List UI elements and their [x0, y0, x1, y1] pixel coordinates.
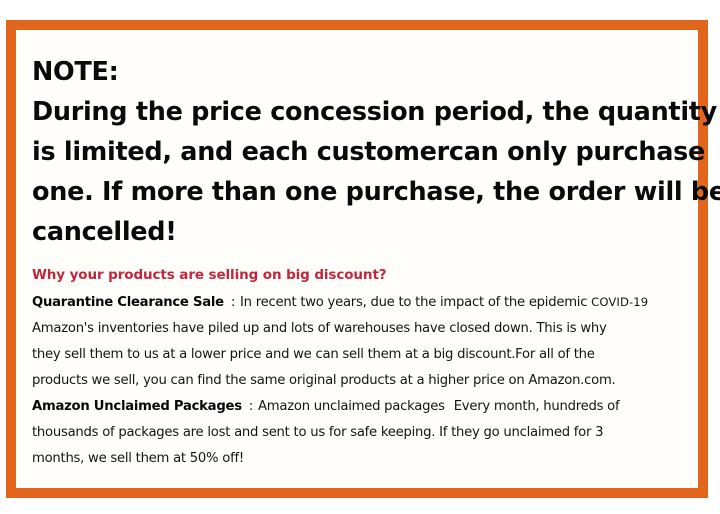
- covid-label: COVID-19: [591, 295, 648, 309]
- unclaimed-line1-tail: Every month, hundreds of: [454, 399, 620, 414]
- unclaimed-line-2: thousands of packages are lost and sent …: [32, 420, 720, 446]
- headline-line-1: During the price concession period, the …: [32, 92, 698, 132]
- notice-card: NOTE: During the price concession period…: [6, 20, 708, 498]
- unclaimed-line-1: Amazon Unclaimed Packages:Amazon unclaim…: [32, 394, 720, 420]
- headline-title: NOTE:: [32, 52, 698, 92]
- headline-line-2: is limited, and each customercan only pu…: [32, 132, 698, 172]
- quarantine-lead: Quarantine Clearance Sale: [32, 295, 224, 310]
- quarantine-separator: :: [224, 295, 240, 310]
- unclaimed-lead: Amazon Unclaimed Packages: [32, 399, 242, 414]
- discount-question-heading: Why your products are selling on big dis…: [32, 267, 698, 283]
- unclaimed-line-3: months, we sell them at 50% off!: [32, 446, 720, 472]
- notice-card-inner: NOTE: During the price concession period…: [16, 30, 698, 488]
- unclaimed-line1-rest: Amazon unclaimed packages: [258, 399, 445, 414]
- unclaimed-separator: :: [242, 399, 258, 414]
- quarantine-line1-rest: In recent two years, due to the impact o…: [240, 295, 587, 310]
- quarantine-line-2: Amazon's inventories have piled up and l…: [32, 316, 720, 342]
- headline-line-4: cancelled!: [32, 212, 698, 252]
- headline-line-3: one. If more than one purchase, the orde…: [32, 172, 698, 212]
- headline-block: NOTE: During the price concession period…: [32, 52, 698, 252]
- quarantine-line-4: products we sell, you can find the same …: [32, 368, 720, 394]
- unclaimed-packages-paragraph: Amazon Unclaimed Packages:Amazon unclaim…: [32, 394, 720, 472]
- quarantine-line-3: they sell them to us at a lower price an…: [32, 342, 720, 368]
- quarantine-clearance-paragraph: Quarantine Clearance Sale:In recent two …: [32, 289, 720, 394]
- quarantine-line-1: Quarantine Clearance Sale:In recent two …: [32, 289, 720, 316]
